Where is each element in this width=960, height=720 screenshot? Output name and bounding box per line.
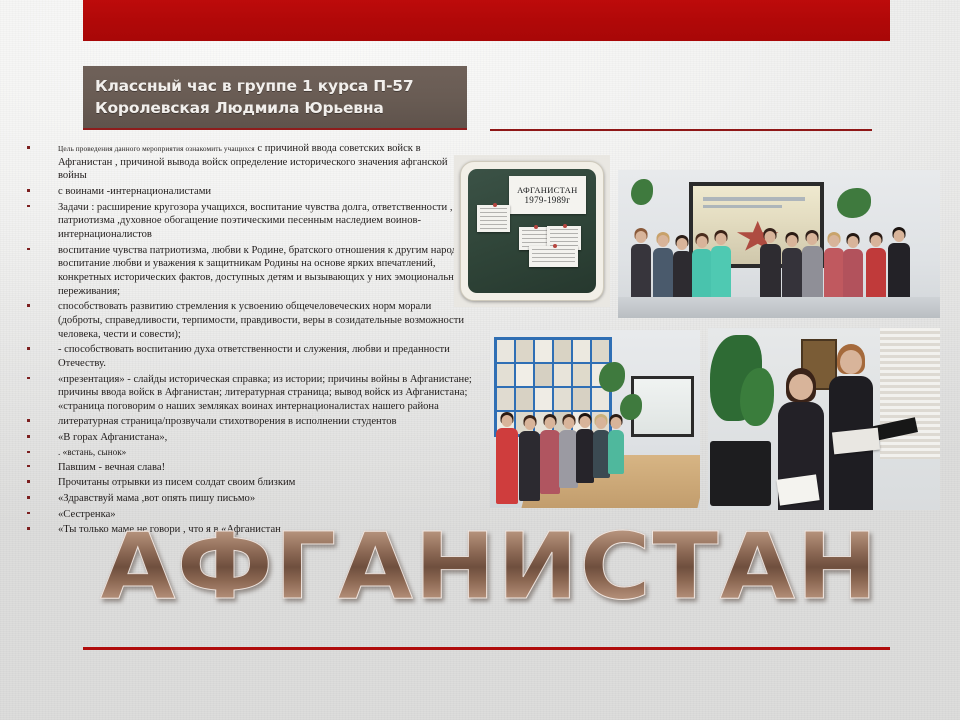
- bullet-marker: [27, 205, 30, 208]
- open-folder: [832, 428, 880, 455]
- note-text-lines: [480, 208, 507, 229]
- person-figure: [608, 430, 624, 474]
- list-item-text: Прочитаны отрывки из писем солдат своим …: [58, 477, 295, 488]
- top-red-banner: [83, 0, 890, 41]
- bullet-marker: [27, 435, 30, 438]
- list-item: воспитание чувства патриотизма, любви к …: [24, 244, 472, 299]
- header-accent-rule: [490, 129, 872, 131]
- floor-band: [618, 297, 940, 318]
- bullet-marker: [27, 248, 30, 251]
- reading-photo-scene: [708, 328, 940, 510]
- list-item: . «встань, сынок»: [24, 447, 472, 459]
- bullet-marker: [27, 347, 30, 350]
- person-figure: [496, 428, 518, 504]
- bullet-marker: [27, 189, 30, 192]
- group-photo-scene: [618, 170, 940, 318]
- person-figure: [576, 429, 594, 483]
- lineup-photo-scene: [490, 330, 700, 508]
- bullet-marker: [27, 377, 30, 380]
- note-text-lines: [532, 249, 575, 264]
- list-item-text: . «встань, сынок»: [58, 447, 126, 457]
- wordart-text: АФГАНИСТАН: [100, 521, 879, 613]
- list-item: «презентация» - слайды историческая спра…: [24, 373, 472, 414]
- bullet-marker: [27, 480, 30, 483]
- title-line-2: Королевская Людмила Юрьевна: [95, 97, 467, 119]
- list-item-text: Задачи : расширение кругозора учащихся, …: [58, 202, 453, 240]
- plant-icon: [631, 179, 653, 205]
- list-item: Задачи : расширение кругозора учащихся, …: [24, 201, 472, 242]
- sheet-of-paper: [776, 474, 819, 505]
- board-note: [529, 246, 578, 267]
- bullet-marker: [27, 512, 30, 515]
- list-item: «Здравствуй мама ,вот опять пишу письмо»: [24, 492, 472, 506]
- list-item: «В горах Афганистана»,: [24, 431, 472, 445]
- monitor: [710, 441, 770, 507]
- board-surface: АФГАНИСТАН 1979-1989г: [468, 169, 596, 293]
- list-item: Цель проведения данного мероприятия озна…: [24, 142, 472, 183]
- title-line-1: Классный час в группе 1 курса П-57: [95, 75, 467, 97]
- plant-icon: [837, 188, 871, 218]
- bullet-marker: [27, 419, 30, 422]
- note-text-lines: [522, 230, 547, 246]
- list-item-text: «презентация» - слайды историческая спра…: [58, 374, 472, 412]
- list-item-text: с воинами -интернационалистами: [58, 186, 211, 197]
- board-heading-line-2: 1979-1989г: [525, 195, 571, 205]
- presentation-slide: Классный час в группе 1 курса П-57 Корол…: [0, 0, 960, 720]
- list-item: Павшим - вечная слава!: [24, 461, 472, 475]
- plaque-underline: [83, 128, 467, 130]
- list-item-text: литературная страница/прозвучали стихотв…: [58, 416, 397, 427]
- photo-collage: АФГАНИСТАН 1979-1989г: [450, 150, 960, 522]
- board-note: [477, 205, 510, 232]
- board-heading-line-1: АФГАНИСТАН: [517, 185, 577, 195]
- bullet-marker: [27, 465, 30, 468]
- board-frame: АФГАНИСТАН 1979-1989г: [460, 161, 604, 301]
- person-figure: [540, 430, 560, 494]
- list-item-text: «В горах Афганистана»,: [58, 432, 167, 443]
- bullet-list: Цель проведения данного мероприятия озна…: [24, 142, 472, 539]
- list-item: с воинами -интернационалистами: [24, 185, 472, 199]
- reading-photo: [708, 328, 940, 510]
- footer-accent-rule: [83, 647, 890, 650]
- bullet-marker: [27, 527, 30, 530]
- wordart-title: АФГАНИСТАН: [100, 512, 800, 622]
- bullet-marker: [27, 496, 30, 499]
- window-blinds: [880, 328, 940, 459]
- bulletin-board-photo: АФГАНИСТАН 1979-1989г: [454, 155, 610, 307]
- bullet-marker: [27, 304, 30, 307]
- list-item: литературная страница/прозвучали стихотв…: [24, 415, 472, 429]
- list-item-lead: Цель проведения данного мероприятия озна…: [58, 144, 255, 153]
- list-item-text: - способствовать воспитанию духа ответст…: [58, 344, 450, 369]
- list-item: Прочитаны отрывки из писем солдат своим …: [24, 476, 472, 490]
- bullet-marker: [27, 451, 30, 454]
- board-heading: АФГАНИСТАН 1979-1989г: [509, 176, 586, 213]
- list-item-text: Павшим - вечная слава!: [58, 462, 165, 473]
- title-plaque: Классный час в группе 1 курса П-57 Корол…: [83, 66, 467, 128]
- person-figure: [519, 431, 540, 501]
- list-item-text: способствовать развитию стремления к усв…: [58, 301, 464, 339]
- group-photo: [618, 170, 940, 318]
- list-item-text: воспитание чувства патриотизма, любви к …: [58, 245, 471, 297]
- bullet-marker: [27, 146, 30, 149]
- list-item: способствовать развитию стремления к усв…: [24, 300, 472, 341]
- lineup-photo: [490, 330, 700, 508]
- list-item-text: «Здравствуй мама ,вот опять пишу письмо»: [58, 493, 255, 504]
- list-item: - способствовать воспитанию духа ответст…: [24, 343, 472, 370]
